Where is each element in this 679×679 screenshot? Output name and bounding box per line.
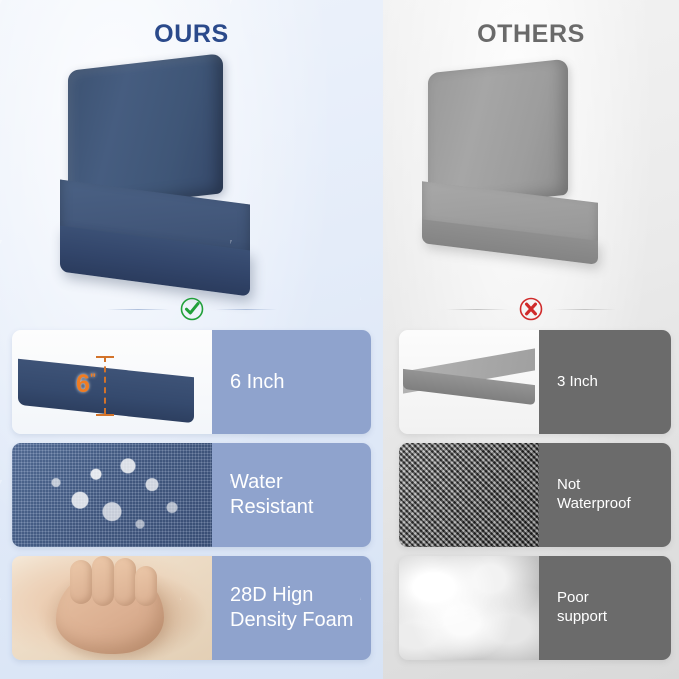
red-x-circle-icon [518, 296, 544, 322]
ours-column: OURS [0, 0, 383, 679]
dimension-cap-bottom [96, 414, 114, 416]
ours-water-photo [12, 443, 212, 547]
others-product-image [383, 52, 679, 287]
ours-feature-label-water: Water Resistant [212, 443, 371, 547]
divider-line-right [215, 309, 277, 310]
others-feature-row-thickness: 3 Inch [399, 330, 671, 434]
ours-feature-label-foam: 28D Hign Density Foam [212, 556, 371, 660]
divider-line-left [446, 309, 508, 310]
finger-1 [70, 560, 92, 604]
ours-foam-photo [12, 556, 212, 660]
others-header-title: OTHERS [383, 20, 679, 49]
others-feature-label-thickness: 3 Inch [539, 330, 671, 434]
others-feature-row-support: Poor support [399, 556, 671, 660]
others-badge-divider [383, 296, 679, 322]
ours-thickness-photo: 6" [12, 330, 212, 434]
thin-cushion-slab-shape [403, 360, 535, 400]
comparison-infographic: OURS [0, 0, 679, 679]
ours-feature-row-foam: 28D Hign Density Foam [12, 556, 371, 660]
cushion-slab-shape [18, 350, 194, 412]
others-fiberfill-photo [399, 556, 539, 660]
divider-line-right [554, 309, 616, 310]
ours-feature-row-water: Water Resistant [12, 443, 371, 547]
callout-number: 6 [76, 370, 90, 398]
others-feature-label-water: Not Waterproof [539, 443, 671, 547]
others-column: OTHERS [383, 0, 679, 679]
finger-2 [92, 556, 114, 606]
others-feature-label-support: Poor support [539, 556, 671, 660]
ours-feature-label-thickness: 6 Inch [212, 330, 371, 434]
dimension-dashed-line [104, 356, 106, 414]
thickness-callout: 6" [76, 370, 96, 399]
green-check-circle-icon [179, 296, 205, 322]
finger-4 [135, 566, 157, 606]
ours-feature-row-thickness: 6" 6 Inch [12, 330, 371, 434]
others-feature-row-water: Not Waterproof [399, 443, 671, 547]
callout-unit: " [90, 371, 96, 386]
ours-header-title: OURS [0, 20, 383, 49]
ours-badge-divider [0, 296, 383, 322]
ours-product-image [0, 52, 383, 287]
divider-line-left [107, 309, 169, 310]
finger-3 [114, 558, 136, 606]
others-thickness-photo [399, 330, 539, 434]
others-mesh-photo [399, 443, 539, 547]
